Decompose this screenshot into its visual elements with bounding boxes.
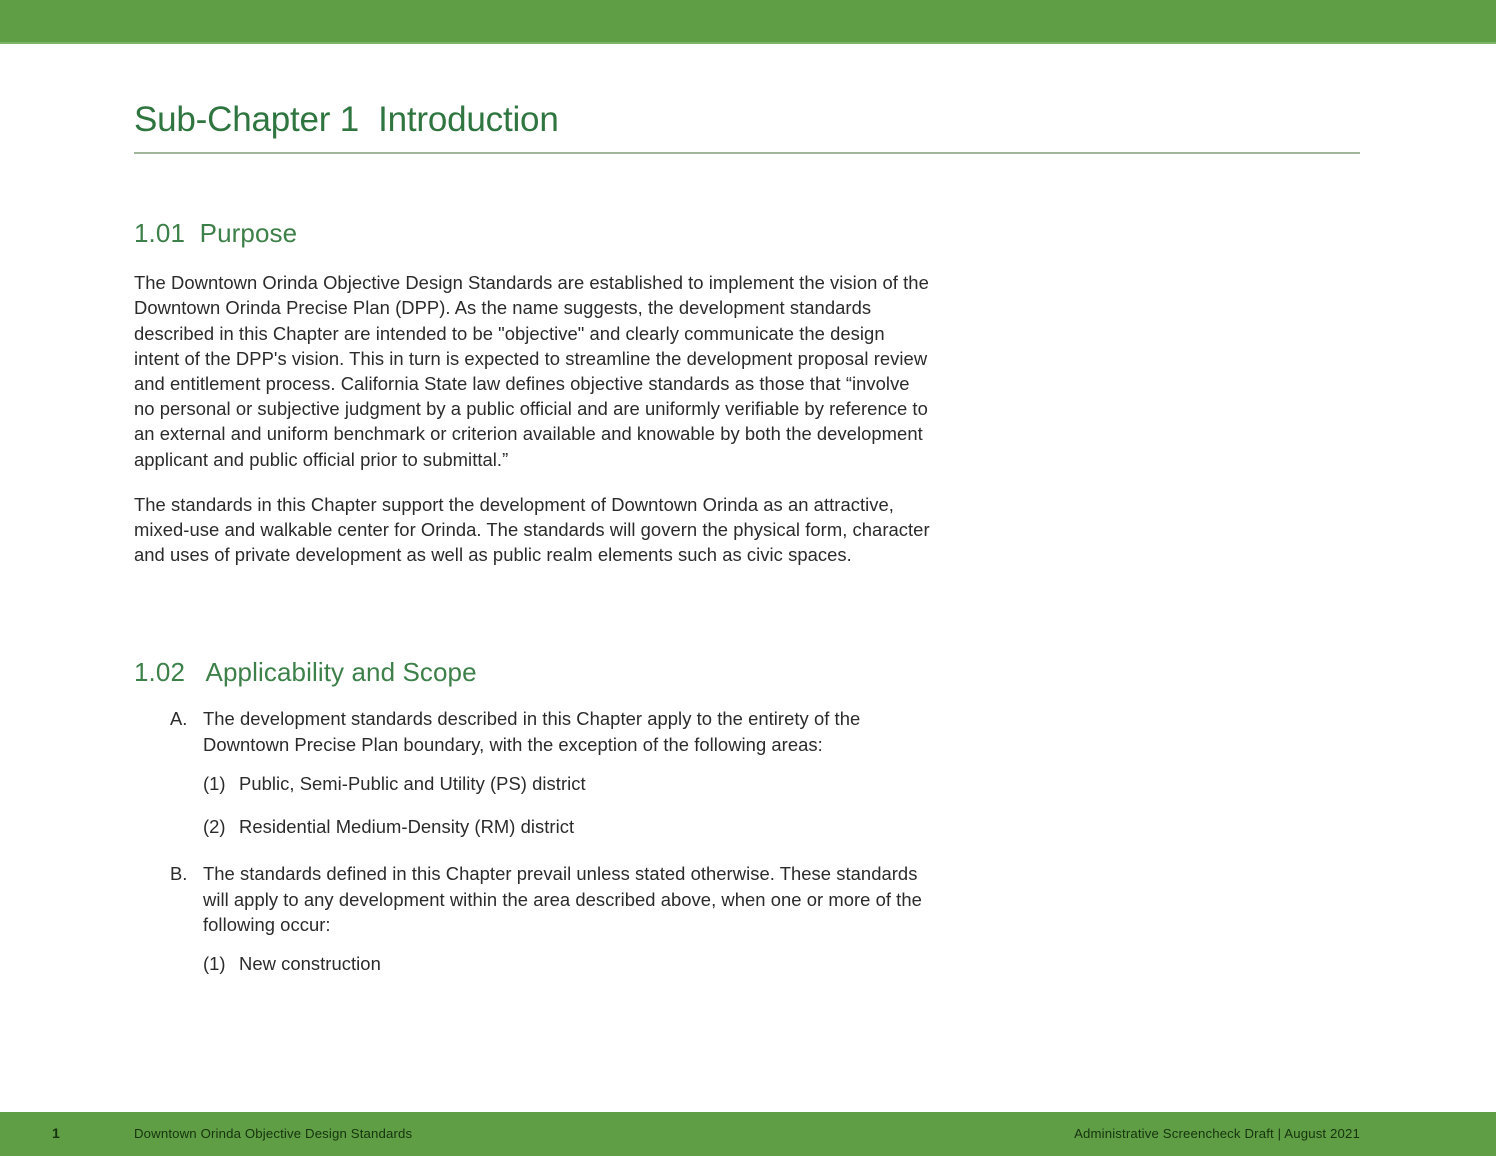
document-page: Sub-Chapter 1 Introduction 1.01 Purpose … bbox=[0, 44, 1496, 1112]
list-item: (2) Residential Medium-Density (RM) dist… bbox=[134, 814, 1360, 839]
list-item: (1) Public, Semi-Public and Utility (PS)… bbox=[134, 771, 1360, 796]
sub-list: (1) Public, Semi-Public and Utility (PS)… bbox=[134, 771, 1360, 839]
footer-document-title: Downtown Orinda Objective Design Standar… bbox=[134, 1126, 412, 1141]
list-item-text: New construction bbox=[239, 951, 381, 976]
top-green-band bbox=[0, 0, 1496, 42]
footer-page-number: 1 bbox=[52, 1125, 60, 1141]
sub-list: (1) New construction bbox=[134, 951, 1360, 976]
paragraph: The standards in this Chapter support th… bbox=[134, 492, 934, 568]
list-item: B. The standards defined in this Chapter… bbox=[134, 861, 1360, 937]
list-item-text: The standards defined in this Chapter pr… bbox=[203, 861, 948, 937]
list-item-text: Public, Semi-Public and Utility (PS) dis… bbox=[239, 771, 586, 796]
paragraph: The Downtown Orinda Objective Design Sta… bbox=[134, 270, 934, 472]
list-item-marker: B. bbox=[170, 861, 203, 886]
section-1-01-body: The Downtown Orinda Objective Design Sta… bbox=[134, 270, 934, 567]
title-divider bbox=[134, 152, 1360, 154]
page-content: Sub-Chapter 1 Introduction 1.01 Purpose … bbox=[134, 100, 1360, 976]
list-item-marker: (1) bbox=[203, 771, 239, 796]
section-heading-1-02: 1.02 Applicability and Scope bbox=[134, 657, 1360, 688]
page-title: Sub-Chapter 1 Introduction bbox=[134, 100, 1360, 140]
list-item: (1) New construction bbox=[134, 951, 1360, 976]
list-item: A. The development standards described i… bbox=[134, 706, 1360, 756]
applicability-list: A. The development standards described i… bbox=[134, 706, 1360, 976]
footer-draft-status: Administrative Screencheck Draft | Augus… bbox=[1074, 1126, 1360, 1141]
page-footer: 1 Downtown Orinda Objective Design Stand… bbox=[0, 1112, 1496, 1156]
list-item-text: Residential Medium-Density (RM) district bbox=[239, 814, 574, 839]
list-item-marker: (1) bbox=[203, 951, 239, 976]
section-heading-1-01: 1.01 Purpose bbox=[134, 218, 1360, 249]
list-item-text: The development standards described in t… bbox=[203, 706, 948, 756]
list-item-marker: A. bbox=[170, 706, 203, 731]
list-item-marker: (2) bbox=[203, 814, 239, 839]
